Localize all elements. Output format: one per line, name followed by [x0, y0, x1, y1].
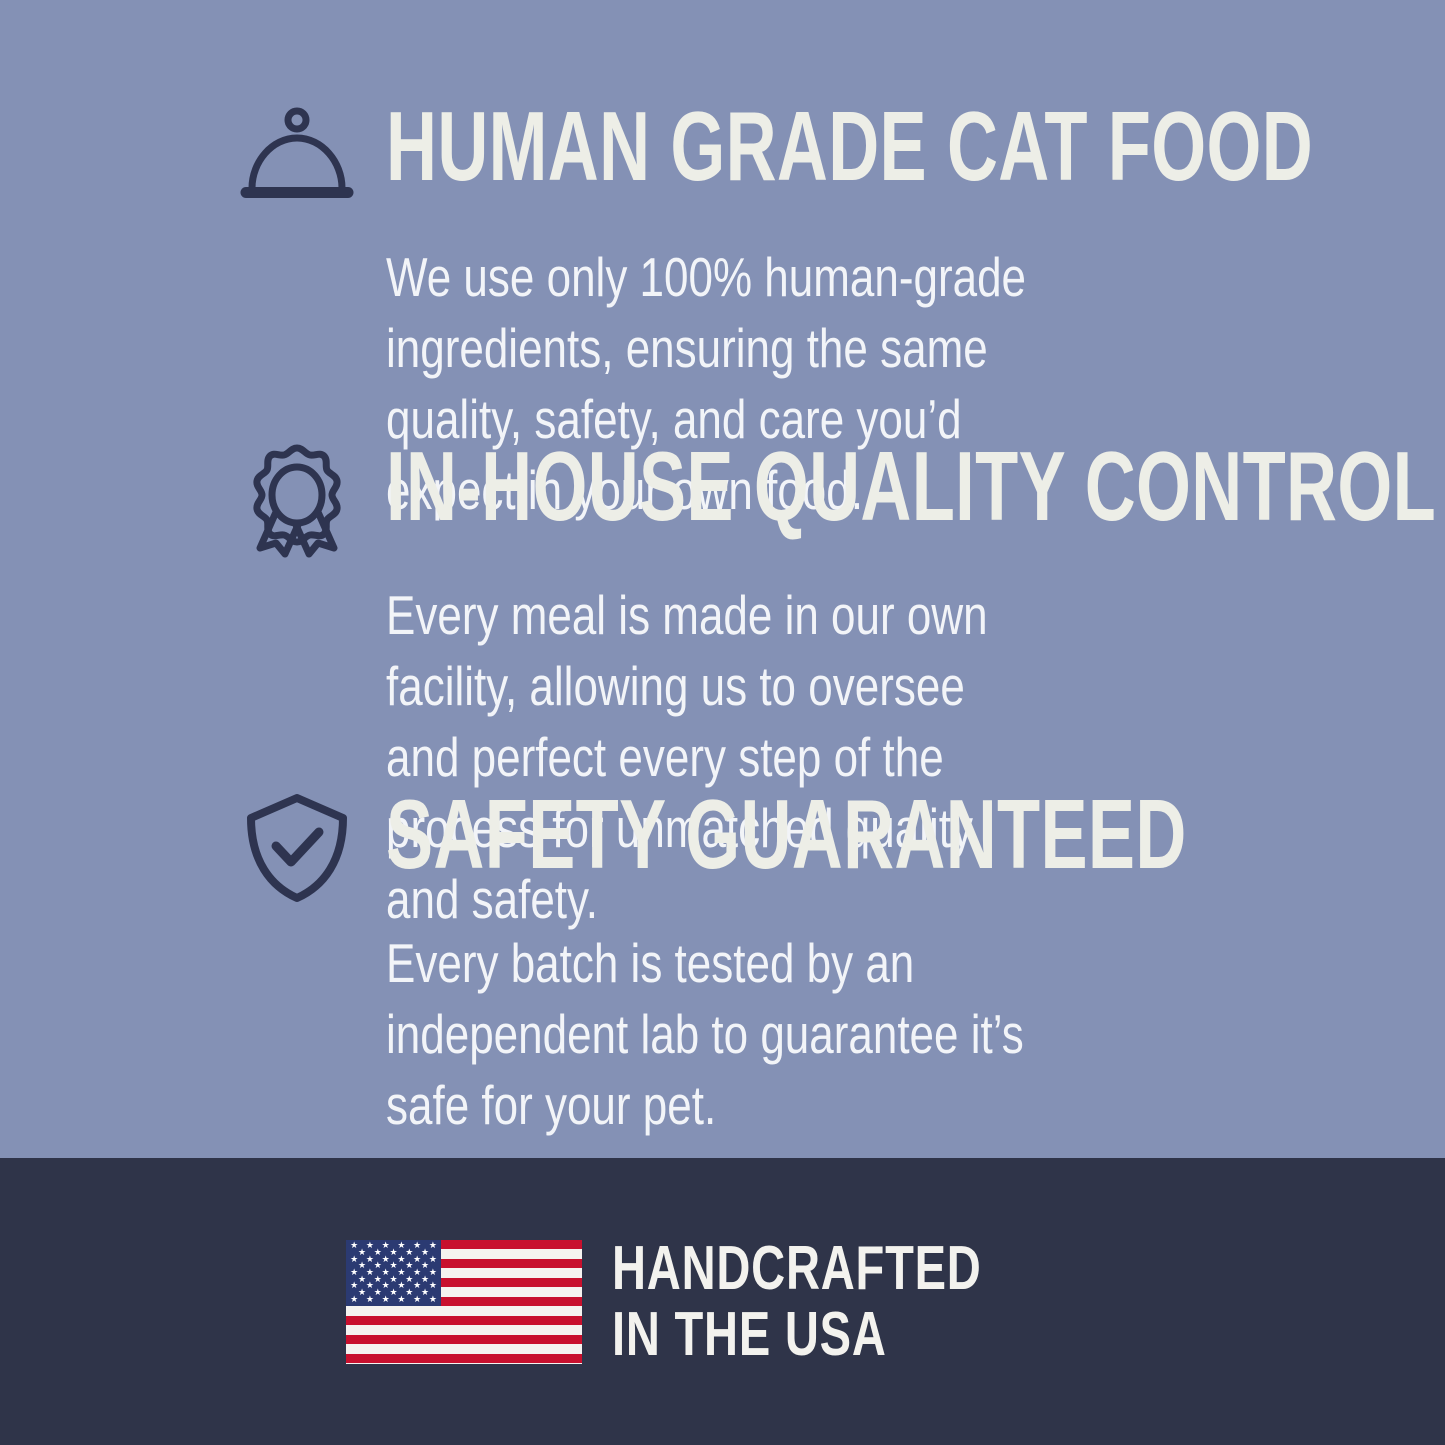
feature-heading: HUMAN GRADE CAT FOOD	[386, 94, 1313, 198]
usa-flag-icon: ★★★★★★★★★★★★★★★★★★★★★★★★★★★★★★★★★★★★★★★★…	[346, 1240, 582, 1364]
flag-star: ★	[428, 1268, 437, 1277]
feature-heading: SAFETY GUARANTEED	[386, 782, 1187, 886]
footer-content: ★★★★★★★★★★★★★★★★★★★★★★★★★★★★★★★★★★★★★★★★…	[0, 1158, 1445, 1445]
marketing-infographic: HUMAN GRADE CAT FOOD We use only 100% hu…	[0, 0, 1445, 1445]
cloche-icon	[238, 100, 356, 218]
flag-stripe	[346, 1354, 582, 1364]
flag-star: ★	[428, 1255, 437, 1264]
flag-star: ★	[413, 1295, 422, 1304]
flag-star: ★	[428, 1241, 437, 1250]
features-panel: HUMAN GRADE CAT FOOD We use only 100% hu…	[0, 0, 1445, 1158]
flag-stripe	[346, 1335, 582, 1345]
flag-star: ★	[397, 1295, 406, 1304]
feature-heading: IN-HOUSE QUALITY CONTROL	[386, 434, 1436, 538]
flag-star: ★	[428, 1281, 437, 1290]
flag-star: ★	[365, 1295, 374, 1304]
flag-star: ★	[428, 1295, 437, 1304]
feature-body: Every batch is tested by an independent …	[386, 928, 1050, 1141]
flag-star: ★	[381, 1295, 390, 1304]
flag-canton: ★★★★★★★★★★★★★★★★★★★★★★★★★★★★★★★★★★★★★★★★…	[346, 1240, 440, 1307]
handcrafted-usa-line-1: HANDCRAFTED	[612, 1236, 982, 1302]
award-rosette-icon	[238, 440, 356, 558]
flag-star: ★	[350, 1295, 359, 1304]
shield-check-icon	[238, 788, 356, 906]
footer-bar: ★★★★★★★★★★★★★★★★★★★★★★★★★★★★★★★★★★★★★★★★…	[0, 1158, 1445, 1445]
handcrafted-usa-line-2: IN THE USA	[612, 1302, 982, 1368]
handcrafted-usa-label: HANDCRAFTED IN THE USA	[612, 1236, 982, 1368]
flag-stripe	[346, 1316, 582, 1326]
